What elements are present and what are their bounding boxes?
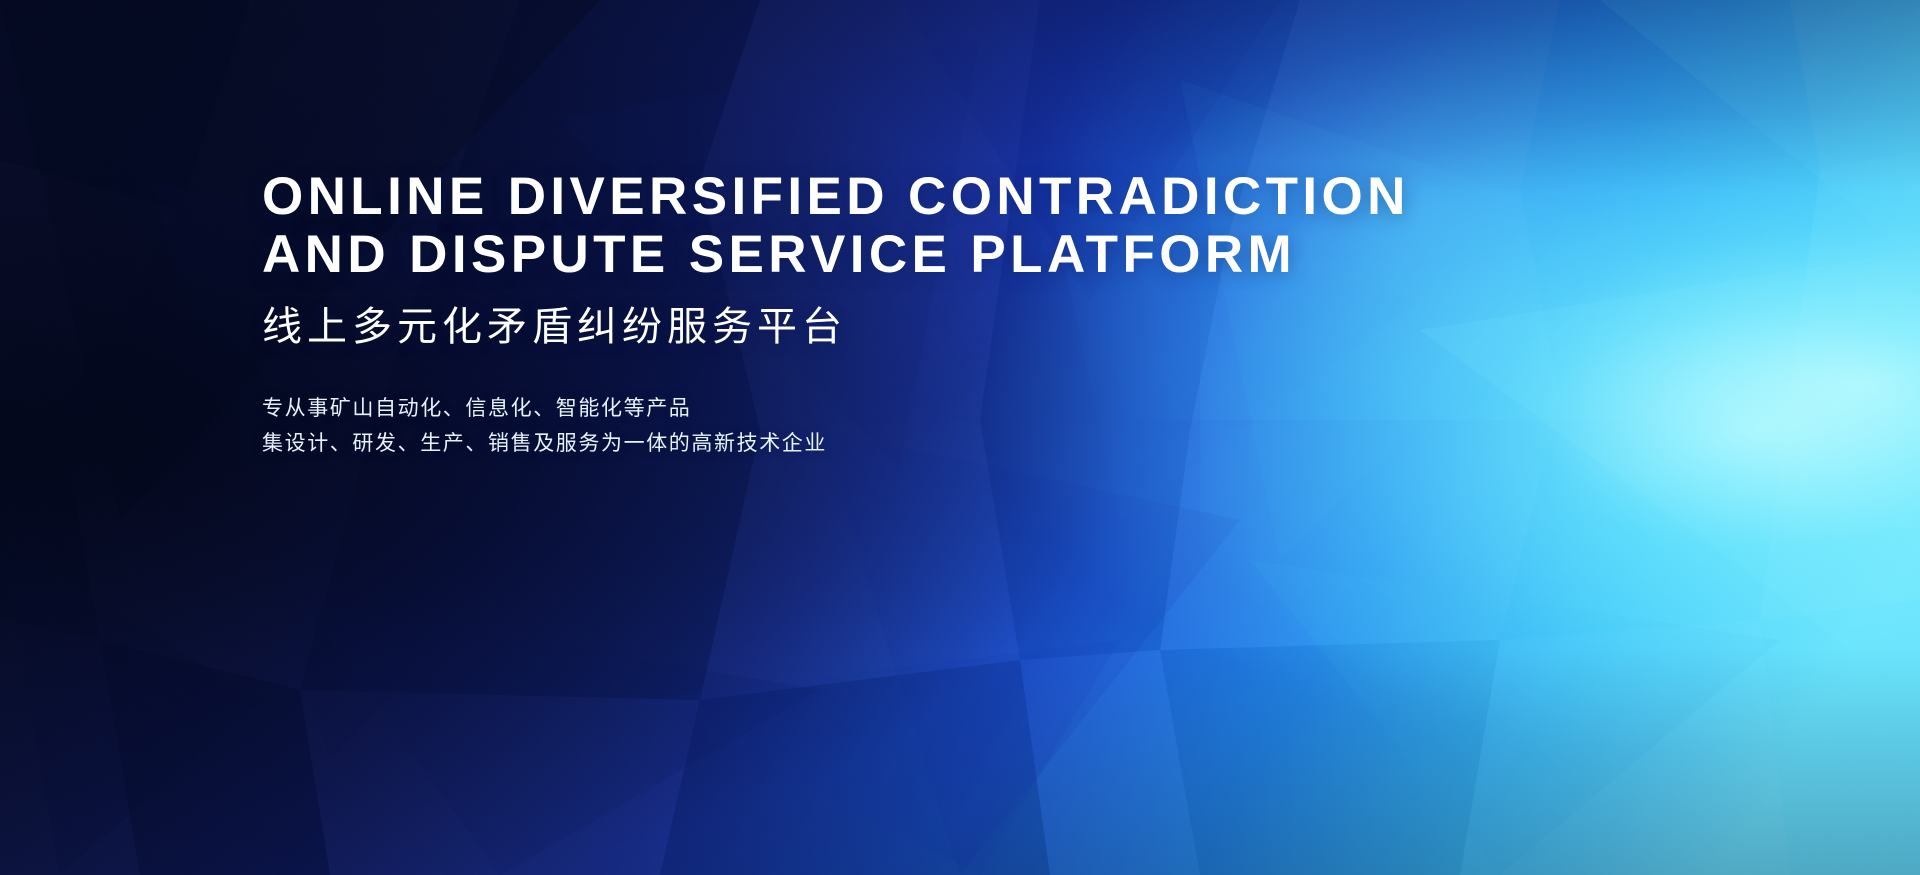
description-line-2: 集设计、研发、生产、销售及服务为一体的高新技术企业: [262, 426, 1662, 461]
description-block: 专从事矿山自动化、信息化、智能化等产品 集设计、研发、生产、销售及服务为一体的高…: [262, 391, 1662, 461]
description-line-1: 专从事矿山自动化、信息化、智能化等产品: [262, 391, 1662, 426]
subtitle-chinese: 线上多元化矛盾纠纷服务平台: [262, 302, 1662, 352]
hero-banner: ONLINE DIVERSIFIED CONTRADICTION AND DIS…: [0, 0, 1920, 875]
title-line-1: ONLINE DIVERSIFIED CONTRADICTION: [262, 168, 1662, 226]
title-line-2: AND DISPUTE SERVICE PLATFORM: [262, 226, 1662, 284]
banner-content: ONLINE DIVERSIFIED CONTRADICTION AND DIS…: [262, 168, 1662, 461]
